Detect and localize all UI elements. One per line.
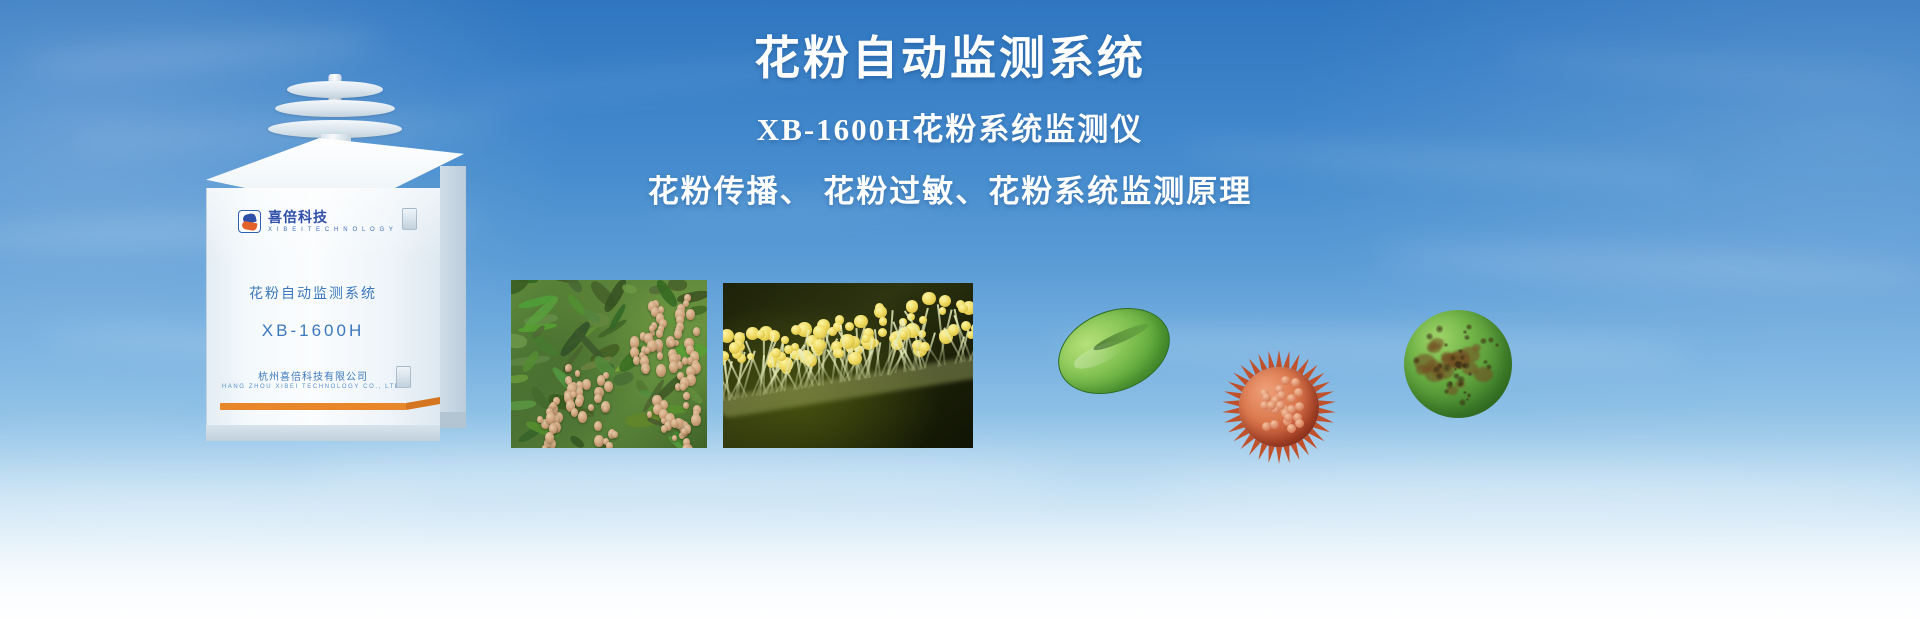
- anther: [813, 325, 827, 339]
- company-name-cn: 杭州喜倍科技有限公司: [196, 368, 430, 383]
- pollen-cone: [571, 391, 576, 398]
- banner-title: 花粉自动监测系统: [530, 30, 1370, 88]
- orange-accent-bar: [220, 403, 406, 410]
- grain-bump: [1295, 402, 1304, 411]
- brand-name-cn: 喜倍科技: [268, 210, 395, 224]
- company-name-en: HANG ZHOU XIBEI TECHNOLOGY CO., LTD.: [196, 384, 430, 390]
- grain-pore: [1488, 337, 1494, 343]
- grain-bump: [1284, 413, 1293, 422]
- green-ellipsoid-grain: [1056, 311, 1172, 391]
- anther: [939, 295, 951, 307]
- cabinet-latch: [396, 366, 411, 388]
- grain-pore: [1483, 360, 1488, 365]
- pollen-cone: [674, 329, 682, 339]
- pollen-cone: [612, 431, 618, 438]
- pollen-cone: [672, 435, 677, 441]
- grain-bump: [1281, 376, 1290, 385]
- pollen-cone: [578, 411, 587, 422]
- grain-pore: [1413, 357, 1420, 364]
- cabinet-base: [206, 425, 440, 441]
- grain-bump: [1270, 420, 1279, 429]
- anther: [958, 304, 967, 313]
- pollen-cone: [606, 442, 613, 448]
- pollen-cone: [575, 370, 580, 377]
- anther: [813, 339, 825, 351]
- anther: [879, 317, 888, 326]
- grain-pore: [1444, 389, 1449, 394]
- anther: [967, 331, 973, 339]
- pollen-cone: [691, 414, 700, 425]
- pollen-cone: [671, 419, 678, 428]
- grain-bump: [1262, 422, 1271, 431]
- anther: [922, 292, 936, 306]
- pollen-cone: [686, 447, 694, 448]
- banner-subtitle: XB-1600H花粉系统监测仪: [530, 110, 1370, 150]
- brand-logo: 喜倍科技 X I B E I T E C H N O L O G Y: [238, 210, 395, 233]
- rain-shield-disc: [275, 100, 395, 117]
- anther: [781, 336, 788, 343]
- grain-spike: [1266, 446, 1275, 464]
- pollen-cone: [542, 445, 548, 448]
- anther: [862, 334, 870, 342]
- grain-pore: [1443, 364, 1451, 372]
- instrument-product-name: 花粉自动监测系统: [196, 283, 430, 303]
- grain-spike: [1222, 399, 1239, 407]
- pollen-cone: [693, 327, 700, 336]
- grain-blotch: [1422, 367, 1429, 373]
- anther: [919, 342, 930, 353]
- anther: [854, 315, 867, 328]
- grain-pore: [1459, 381, 1464, 386]
- grain-pore: [1463, 391, 1467, 395]
- pollen-cone: [645, 347, 650, 353]
- pollen-cone: [669, 361, 678, 372]
- anther: [729, 342, 741, 354]
- pollen-cone: [686, 309, 695, 320]
- pollen-monitoring-banner: 花粉自动监测系统 XB-1600H花粉系统监测仪 花粉传播、 花粉过敏、花粉系统…: [0, 0, 1920, 619]
- cabinet-base-side: [440, 412, 466, 428]
- grain-pore: [1486, 364, 1492, 370]
- grain-pore: [1436, 372, 1444, 380]
- headline-block: 花粉自动监测系统 XB-1600H花粉系统监测仪 花粉传播、 花粉过敏、花粉系统…: [530, 30, 1370, 212]
- anther: [756, 330, 765, 339]
- grain-pore: [1450, 355, 1456, 361]
- grain-pore: [1436, 325, 1444, 333]
- pollen-cone: [603, 406, 608, 412]
- grain-pore: [1458, 349, 1462, 353]
- grain-pore: [1495, 343, 1499, 347]
- brand-name-en: X I B E I T E C H N O L O G Y: [268, 227, 395, 233]
- grain-pore: [1454, 368, 1457, 371]
- banner-description: 花粉传播、 花粉过敏、花粉系统监测原理: [530, 172, 1370, 212]
- xibei-logo-icon: [238, 210, 261, 233]
- anther: [845, 322, 854, 331]
- photo-catkin-pollen-macro: [723, 283, 973, 448]
- grain-spike: [1319, 399, 1336, 407]
- grain-spike: [1319, 408, 1336, 416]
- grain-bump: [1267, 401, 1276, 410]
- grain-bump: [1276, 401, 1285, 410]
- cabinet-side-face: [440, 166, 466, 416]
- anther: [784, 345, 793, 354]
- photo-cypress-pollen-cones: [511, 280, 707, 448]
- grain-pore: [1463, 330, 1467, 334]
- pollen-cone: [680, 383, 686, 391]
- pollen-cone: [682, 357, 688, 364]
- grain-spike: [1266, 350, 1275, 368]
- pollen-cone: [681, 428, 687, 435]
- grain-pore: [1466, 398, 1469, 401]
- pollen-monitor-instrument: 喜倍科技 X I B E I T E C H N O L O G Y 花粉自动监…: [196, 78, 476, 438]
- pollen-cone: [657, 352, 663, 360]
- grain-pore: [1444, 343, 1448, 347]
- rain-shield-disc: [287, 81, 383, 98]
- cabinet-latch: [402, 208, 417, 230]
- pollen-cone: [647, 411, 652, 417]
- anther: [906, 300, 918, 312]
- red-spiky-grain: [1222, 350, 1336, 464]
- pollen-cone: [683, 392, 690, 400]
- grain-spike: [1276, 447, 1282, 464]
- instrument-model-number: XB-1600H: [196, 321, 430, 341]
- pollen-cone: [643, 367, 649, 374]
- grain-spike: [1222, 408, 1239, 416]
- pollen-cone: [656, 364, 666, 376]
- pollen-cone: [594, 394, 601, 403]
- grain-spike: [1276, 350, 1282, 367]
- green-spherical-grain: [1404, 310, 1512, 418]
- pollen-cone: [546, 412, 555, 424]
